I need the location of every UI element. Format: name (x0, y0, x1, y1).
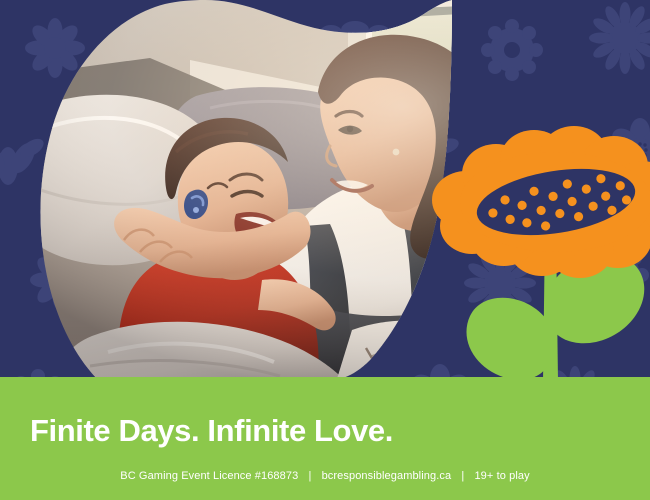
ad-banner: Finite Days. Infinite Love. BC Gaming Ev… (0, 0, 650, 500)
fineprint-separator-1: | (301, 470, 318, 482)
hero-photo-container (0, 0, 650, 382)
licence-text: BC Gaming Event Licence #168873 (120, 470, 298, 482)
headline: Finite Days. Infinite Love. (30, 414, 393, 448)
age-restriction-text: 19+ to play (474, 470, 529, 482)
website-link[interactable]: bcresponsiblegambling.ca (322, 470, 452, 482)
fineprint-separator-2: | (454, 470, 471, 482)
hero-photo (0, 0, 650, 382)
legal-fineprint: BC Gaming Event Licence #168873 | bcresp… (0, 470, 650, 482)
